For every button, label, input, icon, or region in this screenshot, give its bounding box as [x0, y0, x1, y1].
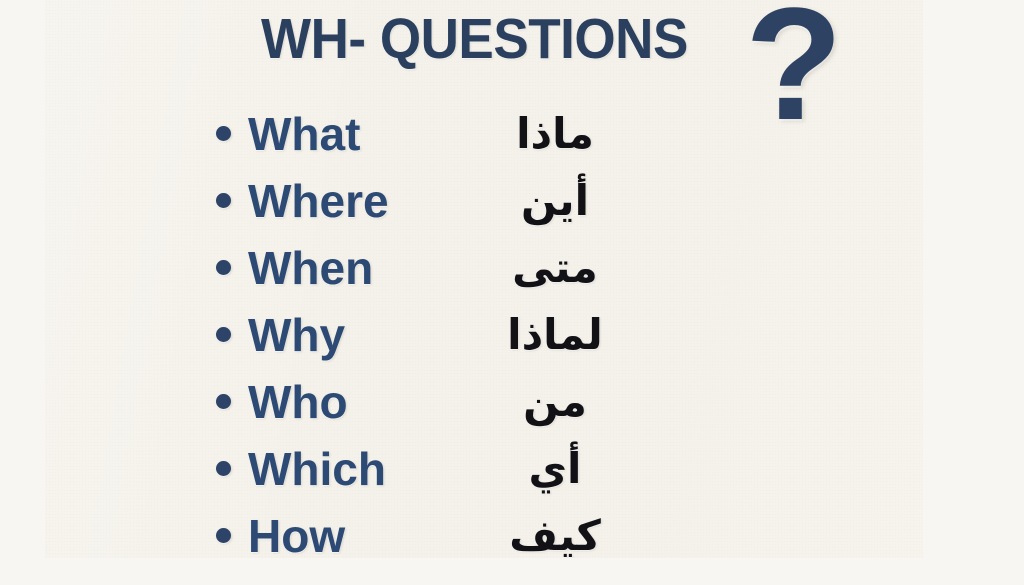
bullet-icon	[208, 167, 238, 234]
bullet-icon	[208, 100, 238, 167]
arabic-term: كيف	[440, 502, 670, 558]
english-term: Where	[248, 167, 389, 234]
arabic-term: أين	[440, 167, 670, 234]
english-term: What	[248, 100, 360, 167]
list-item: How كيف	[45, 502, 923, 558]
english-term: Why	[248, 301, 345, 368]
arabic-term: من	[440, 368, 670, 435]
wh-questions-list: What ماذا Where أين	[45, 100, 923, 558]
english-term: How	[248, 502, 345, 558]
english-term-label: What	[248, 111, 360, 157]
english-term-label: Who	[248, 379, 348, 425]
english-term-label: Which	[248, 446, 386, 492]
arabic-term: أي	[440, 435, 670, 502]
slide-panel: WH- QUESTIONS ? What ماذا Wh	[45, 0, 923, 558]
arabic-term-label: متى	[512, 242, 598, 294]
english-term: Which	[248, 435, 386, 502]
slide-stage: WH- QUESTIONS ? What ماذا Wh	[0, 0, 1024, 585]
bullet-icon	[208, 301, 238, 368]
arabic-term-label: كيف	[509, 510, 601, 559]
page-title: WH- QUESTIONS	[261, 11, 688, 68]
arabic-term-label: أي	[529, 443, 582, 495]
slide-title: WH- QUESTIONS	[261, 4, 720, 74]
arabic-term: ماذا	[440, 100, 670, 167]
english-term-label: Where	[248, 178, 389, 224]
bullet-icon	[208, 502, 238, 558]
english-term-label: Why	[248, 312, 345, 358]
bullet-icon	[208, 435, 238, 502]
list-item: When متى	[45, 234, 923, 301]
bullet-icon	[208, 234, 238, 301]
english-term: Who	[248, 368, 348, 435]
arabic-term-label: أين	[521, 175, 589, 227]
arabic-term: لماذا	[440, 301, 670, 368]
english-term-label: How	[248, 513, 345, 559]
list-item: Who من	[45, 368, 923, 435]
english-term-label: When	[248, 245, 373, 291]
english-term: When	[248, 234, 373, 301]
list-item: Where أين	[45, 167, 923, 234]
arabic-term-label: من	[523, 376, 587, 428]
arabic-term: متى	[440, 234, 670, 301]
arabic-term-label: ماذا	[516, 108, 594, 160]
list-item: What ماذا	[45, 100, 923, 167]
arabic-term-label: لماذا	[507, 309, 603, 361]
list-item: Which أي	[45, 435, 923, 502]
list-item: Why لماذا	[45, 301, 923, 368]
bullet-icon	[208, 368, 238, 435]
